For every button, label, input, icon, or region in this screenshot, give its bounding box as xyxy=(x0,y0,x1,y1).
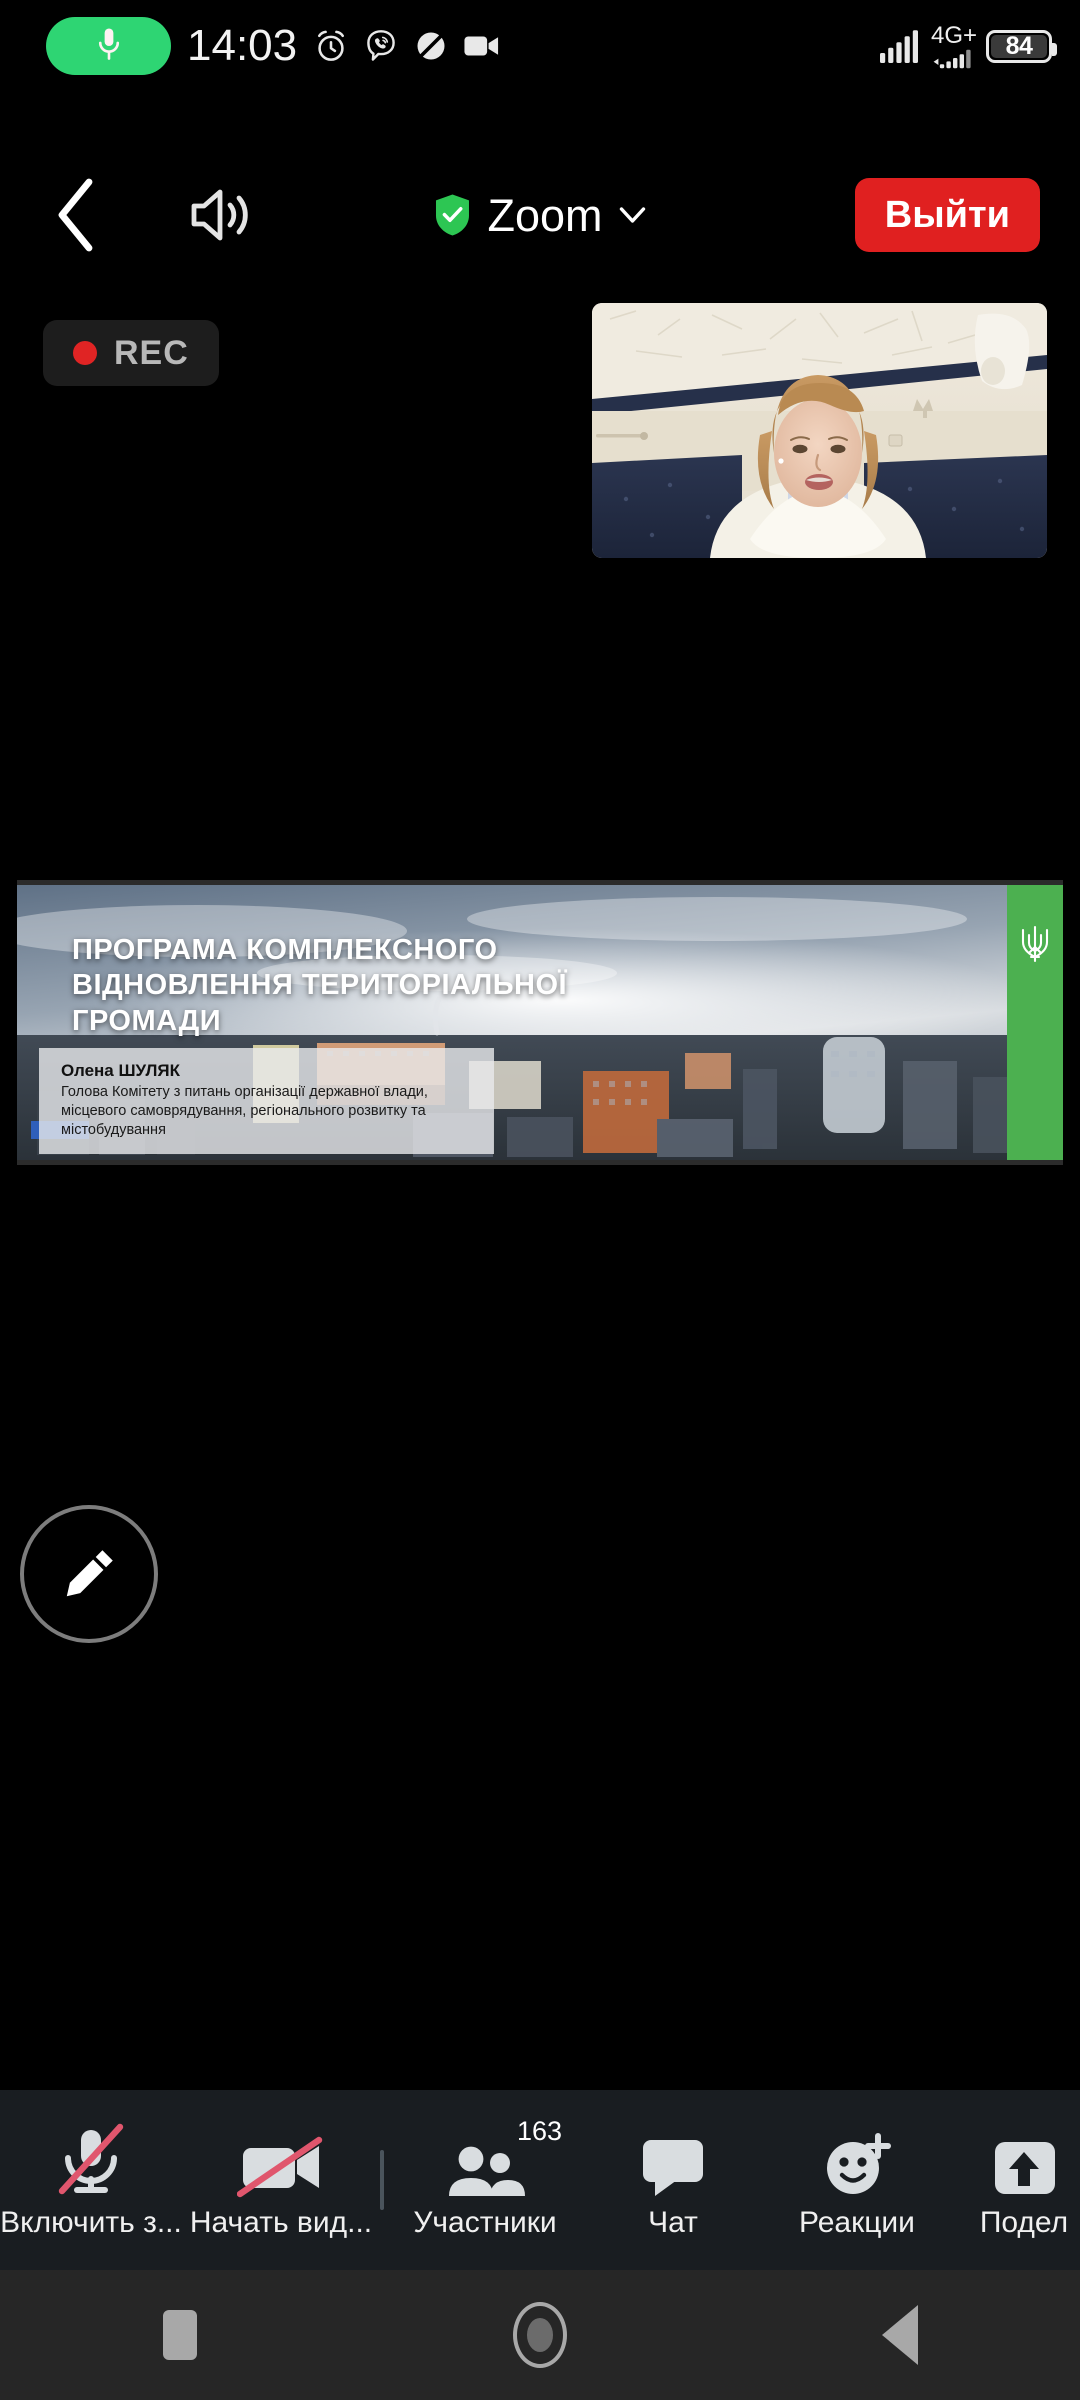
chevron-left-icon xyxy=(53,178,99,252)
android-navigation-bar xyxy=(0,2270,1080,2400)
participants-count-badge: 163 xyxy=(517,2118,562,2145)
participants-icon: 163 xyxy=(445,2122,525,2198)
speaker-toggle-button[interactable] xyxy=(180,179,266,251)
recents-button[interactable] xyxy=(125,2280,235,2390)
app-nav-bar: Zoom Выйти xyxy=(0,150,1080,280)
recording-badge: REC xyxy=(43,320,219,386)
mic-privacy-indicator xyxy=(46,17,171,75)
slide-accent-bar xyxy=(1007,885,1063,1160)
chevron-down-icon[interactable] xyxy=(619,205,647,225)
toolbar-item-share[interactable]: Подел xyxy=(954,2090,1080,2270)
back-button-system[interactable] xyxy=(845,2280,955,2390)
home-button[interactable] xyxy=(485,2280,595,2390)
slide-speaker-role: Голова Комітету з питань організації дер… xyxy=(61,1083,472,1140)
status-bar-notification-icons xyxy=(313,28,501,64)
status-bar-right-icons: 4G+ 84 xyxy=(880,24,1052,69)
shield-check-icon xyxy=(433,193,471,237)
video-camera-icon xyxy=(463,32,501,60)
pencil-icon xyxy=(58,1543,120,1605)
leave-meeting-button[interactable]: Выйти xyxy=(855,178,1040,252)
toolbar-label-reactions: Реакции xyxy=(799,2208,915,2238)
phone-screen: 14:03 xyxy=(0,0,1080,2400)
ukraine-tryzub-icon xyxy=(1018,923,1052,965)
microphone-off-icon xyxy=(54,2122,128,2198)
page-title: Zoom xyxy=(487,193,602,238)
battery-percent-label: 84 xyxy=(1006,34,1033,59)
status-bar: 14:03 xyxy=(0,0,1080,92)
status-bar-clock: 14:03 xyxy=(187,24,297,68)
toolbar-item-chat[interactable]: Чат xyxy=(586,2090,760,2270)
toolbar-label-share: Подел xyxy=(980,2208,1068,2238)
toolbar-item-reactions[interactable]: Реакции xyxy=(760,2090,954,2270)
reactions-smiley-icon xyxy=(821,2122,893,2198)
video-off-icon xyxy=(237,2122,325,2198)
battery-indicator: 84 xyxy=(986,30,1052,63)
annotate-button[interactable] xyxy=(20,1505,158,1643)
signal-bars-icon xyxy=(933,49,975,69)
self-view-video-frame xyxy=(592,303,1047,558)
back-button[interactable] xyxy=(40,179,112,251)
network-type-label: 4G+ xyxy=(931,24,977,48)
dnd-icon xyxy=(413,28,449,64)
toolbar-label-chat: Чат xyxy=(648,2208,698,2238)
recents-square-icon xyxy=(163,2310,197,2360)
meeting-stage: REC xyxy=(0,280,1080,2080)
share-up-arrow-icon xyxy=(991,2122,1057,2198)
chat-bubble-icon xyxy=(639,2122,707,2198)
meeting-toolbar: Включить з... Начать вид... xyxy=(0,2090,1080,2270)
home-circle-icon xyxy=(513,2302,567,2368)
toolbar-label-start-video: Начать вид... xyxy=(190,2208,372,2238)
microphone-icon xyxy=(94,27,124,65)
recording-label: REC xyxy=(114,336,189,370)
toolbar-item-start-video[interactable]: Начать вид... xyxy=(182,2090,380,2270)
presentation-slide: ПРОГРАМА КОМПЛЕКСНОГО ВІДНОВЛЕННЯ ТЕРИТО… xyxy=(17,885,1063,1160)
slide-speaker-box: Олена ШУЛЯК Голова Комітету з питань орг… xyxy=(39,1048,494,1154)
toolbar-item-unmute[interactable]: Включить з... xyxy=(0,2090,182,2270)
record-dot-icon xyxy=(73,341,97,365)
signal-bars-icon xyxy=(880,29,922,63)
toolbar-label-unmute: Включить з... xyxy=(0,2208,182,2238)
toolbar-label-participants: Участники xyxy=(413,2208,556,2238)
back-triangle-icon xyxy=(882,2305,918,2365)
self-view-thumbnail[interactable] xyxy=(592,303,1047,558)
toolbar-item-participants[interactable]: 163 Участники xyxy=(384,2090,586,2270)
speaker-on-icon xyxy=(188,184,258,246)
shared-screen-frame[interactable]: ПРОГРАМА КОМПЛЕКСНОГО ВІДНОВЛЕННЯ ТЕРИТО… xyxy=(17,880,1063,1165)
slide-speaker-name: Олена ШУЛЯК xyxy=(61,1060,472,1082)
meeting-title-group[interactable]: Zoom xyxy=(433,193,646,238)
slide-title: ПРОГРАМА КОМПЛЕКСНОГО ВІДНОВЛЕННЯ ТЕРИТО… xyxy=(72,933,712,1039)
alarm-clock-icon xyxy=(313,28,349,64)
viber-icon xyxy=(363,28,399,64)
